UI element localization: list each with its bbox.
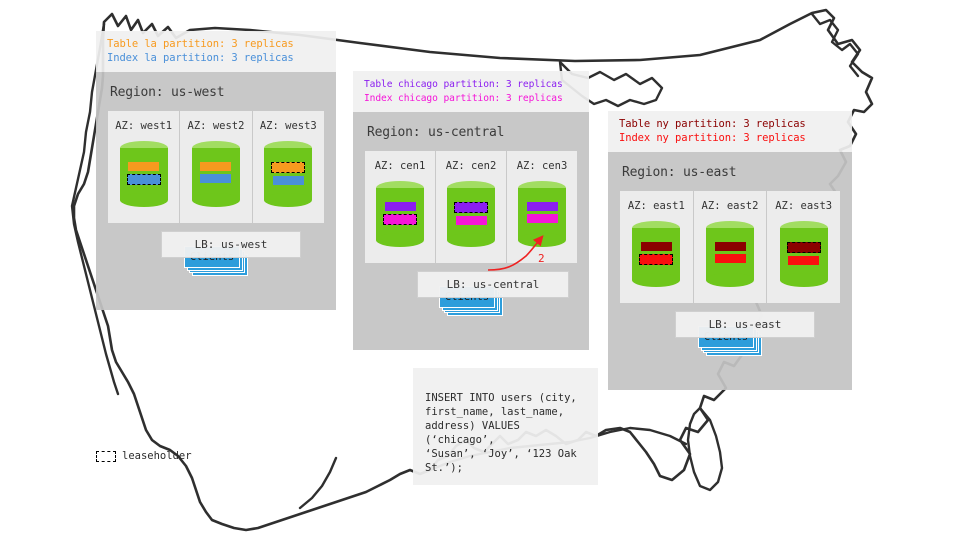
az-row-us-east: AZ: east1 AZ: east2	[620, 191, 840, 303]
legend: leaseholder	[96, 450, 192, 462]
az-label-west2: AZ: west2	[188, 120, 245, 132]
replica-bar-table	[385, 202, 416, 211]
az-cell-west3[interactable]: AZ: west3	[252, 111, 324, 223]
replica-bar-index-leaseholder	[639, 254, 673, 265]
replica-bar-index	[527, 214, 558, 223]
partition-line-table: Table la partition: 3 replicas	[107, 38, 326, 52]
az-cell-east3[interactable]: AZ: east3	[766, 191, 840, 303]
az-cell-east2[interactable]: AZ: east2	[693, 191, 767, 303]
sql-text: INSERT INTO users (city, first_name, las…	[425, 392, 577, 474]
cylinder-bottom-icon	[120, 193, 168, 207]
replica-bar-index-leaseholder	[127, 174, 161, 185]
partition-line-index: Index ny partition: 3 replicas	[619, 132, 842, 146]
replica-bar-table-leaseholder	[454, 202, 488, 213]
az-cell-west1[interactable]: AZ: west1	[108, 111, 179, 223]
dashed-rect-icon	[96, 451, 116, 462]
partition-line-index: Index la partition: 3 replicas	[107, 52, 326, 66]
database-cylinder-east1[interactable]	[632, 221, 680, 287]
az-cell-cen1[interactable]: AZ: cen1	[365, 151, 435, 263]
partition-header-us-west: Table la partition: 3 replicas Index la …	[96, 31, 336, 72]
az-label-cen2: AZ: cen2	[446, 160, 497, 172]
cylinder-bottom-icon	[192, 193, 240, 207]
cylinder-bottom-icon	[706, 273, 754, 287]
az-label-east2: AZ: east2	[702, 200, 759, 212]
region-panel-us-central: Table chicago partition: 3 replicas Inde…	[353, 71, 589, 350]
replica-bars	[780, 242, 828, 265]
replica-bars	[376, 202, 424, 225]
sql-statement-callout: INSERT INTO users (city, first_name, las…	[413, 368, 598, 485]
replica-bar-index-leaseholder	[383, 214, 417, 225]
replica-bar-index	[715, 254, 746, 263]
database-cylinder-east2[interactable]	[706, 221, 754, 287]
az-label-east3: AZ: east3	[775, 200, 832, 212]
region-body-us-east: Region: us-east AZ: east1 A	[608, 152, 852, 390]
lb-label: LB: us-east	[709, 318, 782, 331]
database-cylinder-west3[interactable]	[264, 141, 312, 207]
load-balancer-us-east[interactable]: LB: us-east	[675, 311, 815, 338]
step-number-label: 2	[538, 252, 545, 265]
cylinder-bottom-icon	[780, 273, 828, 287]
replica-bars	[447, 202, 495, 225]
partition-line-table: Table ny partition: 3 replicas	[619, 118, 842, 132]
replica-bars	[518, 202, 566, 223]
replica-bar-index	[788, 256, 819, 265]
az-cell-west2[interactable]: AZ: west2	[179, 111, 251, 223]
replica-bar-table	[715, 242, 746, 251]
replica-bars	[632, 242, 680, 265]
database-cylinder-cen1[interactable]	[376, 181, 424, 247]
partition-line-index: Index chicago partition: 3 replicas	[364, 92, 579, 106]
partition-header-us-east: Table ny partition: 3 replicas Index ny …	[608, 111, 852, 152]
replica-bar-table	[641, 242, 672, 251]
cylinder-bottom-icon	[376, 233, 424, 247]
replica-bar-table-leaseholder	[271, 162, 305, 173]
partition-line-table: Table chicago partition: 3 replicas	[364, 78, 579, 92]
region-panel-us-east: Table ny partition: 3 replicas Index ny …	[608, 111, 852, 390]
az-row-us-west: AZ: west1 AZ: west2	[108, 111, 324, 223]
region-panel-us-west: Table la partition: 3 replicas Index la …	[96, 31, 336, 310]
replica-bars	[192, 162, 240, 183]
replica-bar-table-leaseholder	[787, 242, 821, 253]
replica-bar-table	[527, 202, 558, 211]
replica-bar-table	[200, 162, 231, 171]
replica-bars	[264, 162, 312, 185]
database-cylinder-west2[interactable]	[192, 141, 240, 207]
database-cylinder-west1[interactable]	[120, 141, 168, 207]
load-balancer-us-west[interactable]: LB: us-west	[161, 231, 301, 258]
az-label-west1: AZ: west1	[115, 120, 172, 132]
replica-bar-index	[200, 174, 231, 183]
routing-arrow-annotation: 2	[486, 224, 576, 286]
region-body-us-west: Region: us-west AZ: west1 A	[96, 72, 336, 310]
region-title-us-central: Region: us-central	[353, 112, 589, 151]
replica-bar-index	[456, 216, 487, 225]
legend-label: leaseholder	[122, 450, 192, 462]
partition-header-us-central: Table chicago partition: 3 replicas Inde…	[353, 71, 589, 112]
replica-bar-table	[128, 162, 159, 171]
az-label-east1: AZ: east1	[628, 200, 685, 212]
az-cell-east1[interactable]: AZ: east1	[620, 191, 693, 303]
replica-bars	[120, 162, 168, 185]
replica-bars	[706, 242, 754, 263]
database-cylinder-east3[interactable]	[780, 221, 828, 287]
cylinder-bottom-icon	[264, 193, 312, 207]
az-label-west3: AZ: west3	[260, 120, 317, 132]
region-title-us-west: Region: us-west	[96, 72, 336, 111]
az-label-cen1: AZ: cen1	[375, 160, 426, 172]
replica-bar-index	[273, 176, 304, 185]
cylinder-bottom-icon	[632, 273, 680, 287]
diagram-canvas: Table la partition: 3 replicas Index la …	[0, 0, 960, 540]
az-label-cen3: AZ: cen3	[517, 160, 568, 172]
lb-label: LB: us-west	[195, 238, 268, 251]
region-title-us-east: Region: us-east	[608, 152, 852, 191]
